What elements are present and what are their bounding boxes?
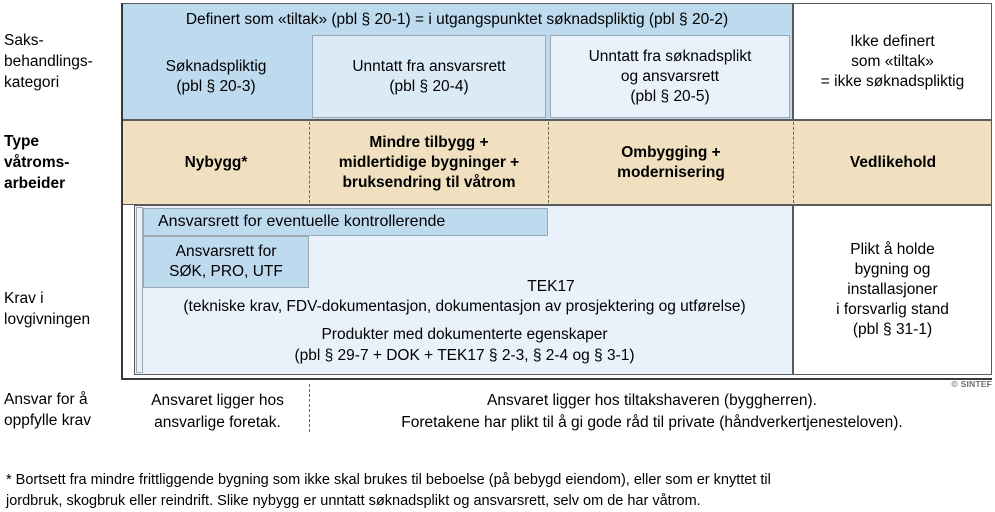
row-label-krav-i-lovgivningen: Krav i lovgivningen [4, 288, 119, 330]
footnote-nybygg: * Bortsett fra mindre frittliggende bygn… [6, 470, 991, 512]
row-label-type-vatromsarbeider: Type våtroms- arbeider [4, 131, 119, 194]
row3-tek17-title: TEK17 [309, 278, 793, 296]
row1-cell-soknadspliktig: Søknadspliktig (pbl § 20-3) [123, 35, 309, 118]
table-left-edge [121, 3, 123, 380]
row3-produkter-subtitle: (pbl § 29-7 + DOK + TEK17 § 2-3, § 2-4 o… [136, 347, 793, 365]
row3-produkter-title: Produkter med dokumenterte egenskaper [136, 326, 793, 344]
row1-banner-tiltak-definition: Definert som «tiltak» (pbl § 20-1) = i u… [123, 5, 791, 35]
copyright-sintef: © SINTEF [936, 379, 992, 389]
row3-tek17-subtitle: (tekniske krav, FDV-dokumentasjon, dokum… [136, 298, 793, 316]
row2-cell-ombygging-modernisering: Ombygging + modernisering [548, 122, 793, 203]
row2-cell-mindre-tilbygg: Mindre tilbygg + midlertidige bygninger … [309, 122, 548, 203]
row1-cell-ikke-definert: Ikke definert som «tiltak» = ikke søknad… [793, 3, 992, 120]
row-label-saksbehandlingskategori: Saks- behandlings- kategori [4, 30, 119, 93]
row2-cell-nybygg: Nybygg* [123, 122, 309, 203]
row4-divider [309, 384, 310, 432]
row3-cell-plikt-holde-bygning: Plikt å holde bygning og installasjoner … [793, 205, 992, 375]
row3-bottom-rule [121, 378, 992, 380]
row4-cell-ansvarlige-foretak: Ansvaret ligger hos ansvarlige foretak. [126, 390, 309, 434]
row3-box-ansvarsrett-kontrollerende-label: Ansvarsrett for eventuelle kontrollerend… [144, 213, 445, 231]
row-label-ansvar-for-a-oppfylle-krav: Ansvar for å oppfylle krav [4, 389, 124, 431]
row4-cell-tiltakshaver: Ansvaret ligger hos tiltakshaveren (bygg… [312, 390, 992, 434]
row1-cell-unntatt-soknadsplikt-ansvarsrett: Unntatt fra søknadsplikt og ansvarsrett … [550, 35, 790, 118]
row1-cell-unntatt-ansvarsrett: Unntatt fra ansvarsrett (pbl § 20-4) [312, 35, 546, 118]
row3-box-ansvarsrett-kontrollerende: Ansvarsrett for eventuelle kontrollerend… [143, 208, 548, 236]
row2-cell-vedlikehold: Vedlikehold [793, 122, 992, 203]
row3-box-ansvarsrett-sok-pro-utf: Ansvarsrett for SØK, PRO, UTF [143, 236, 309, 288]
